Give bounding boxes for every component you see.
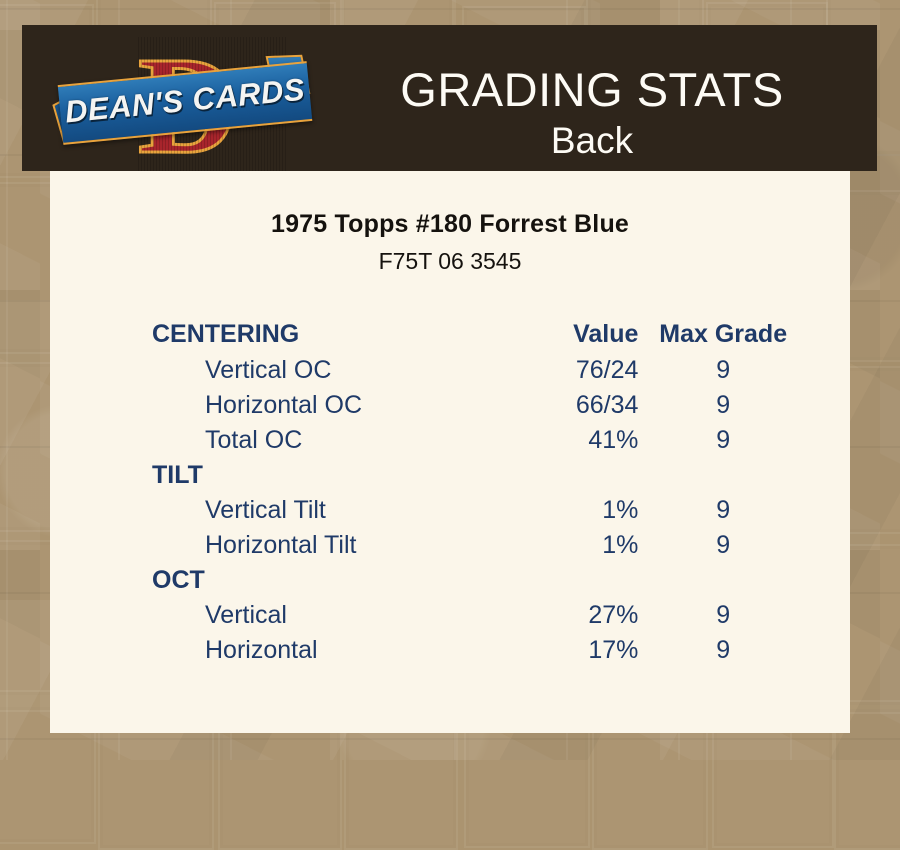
stat-max-grade: 9 <box>648 388 850 423</box>
header-bar: D DEAN'S CARDS GRADING STATS Back <box>22 25 877 171</box>
section-header-tilt: TILT <box>50 458 516 493</box>
table-section-row: TILT <box>50 458 850 493</box>
stat-max-grade: 9 <box>648 528 850 563</box>
stat-max-grade: 9 <box>648 493 850 528</box>
table-row: Horizontal OC66/349 <box>50 388 850 423</box>
stat-label: Vertical OC <box>50 353 516 388</box>
stat-label: Horizontal <box>50 633 516 668</box>
page-subtitle: Back <box>322 119 862 163</box>
table-row: Horizontal Tilt1%9 <box>50 528 850 563</box>
stat-label: Total OC <box>50 423 516 458</box>
section-header-oct: OCT <box>50 563 516 598</box>
stat-value: 17% <box>516 633 649 668</box>
table-row: Horizontal17%9 <box>50 633 850 668</box>
stat-max-grade: 9 <box>648 633 850 668</box>
stat-value: 66/34 <box>516 388 649 423</box>
table-row: Vertical OC76/249 <box>50 353 850 388</box>
column-header-max-grade: Max Grade <box>648 315 850 353</box>
grading-stats-body: CENTERINGValueMax GradeVertical OC76/249… <box>50 315 850 668</box>
stat-label: Horizontal OC <box>50 388 516 423</box>
stat-value: 1% <box>516 493 649 528</box>
stat-label: Vertical <box>50 598 516 633</box>
table-row: Vertical Tilt1%9 <box>50 493 850 528</box>
logo-wordmark: DEAN'S CARDS <box>58 61 312 141</box>
stat-value: 41% <box>516 423 649 458</box>
card-title: 1975 Topps #180 Forrest Blue <box>50 210 850 239</box>
stat-label: Vertical Tilt <box>50 493 516 528</box>
table-header-row: CENTERINGValueMax Grade <box>50 315 850 353</box>
stat-value: 76/24 <box>516 353 649 388</box>
stat-max-grade: 9 <box>648 353 850 388</box>
content-panel: 1975 Topps #180 Forrest Blue F75T 06 354… <box>50 171 850 733</box>
page-title: GRADING STATS <box>322 63 862 117</box>
card-serial-number: F75T 06 3545 <box>50 248 850 275</box>
grading-stats-table: CENTERINGValueMax GradeVertical OC76/249… <box>50 315 850 668</box>
table-section-row: OCT <box>50 563 850 598</box>
deans-cards-logo: D DEAN'S CARDS <box>60 29 310 169</box>
stat-value: 27% <box>516 598 649 633</box>
section-header-centering: CENTERING <box>50 315 516 353</box>
stat-label: Horizontal Tilt <box>50 528 516 563</box>
column-header-value: Value <box>516 315 649 353</box>
stat-max-grade: 9 <box>648 598 850 633</box>
table-row: Total OC41%9 <box>50 423 850 458</box>
stat-value: 1% <box>516 528 649 563</box>
table-row: Vertical27%9 <box>50 598 850 633</box>
stat-max-grade: 9 <box>648 423 850 458</box>
